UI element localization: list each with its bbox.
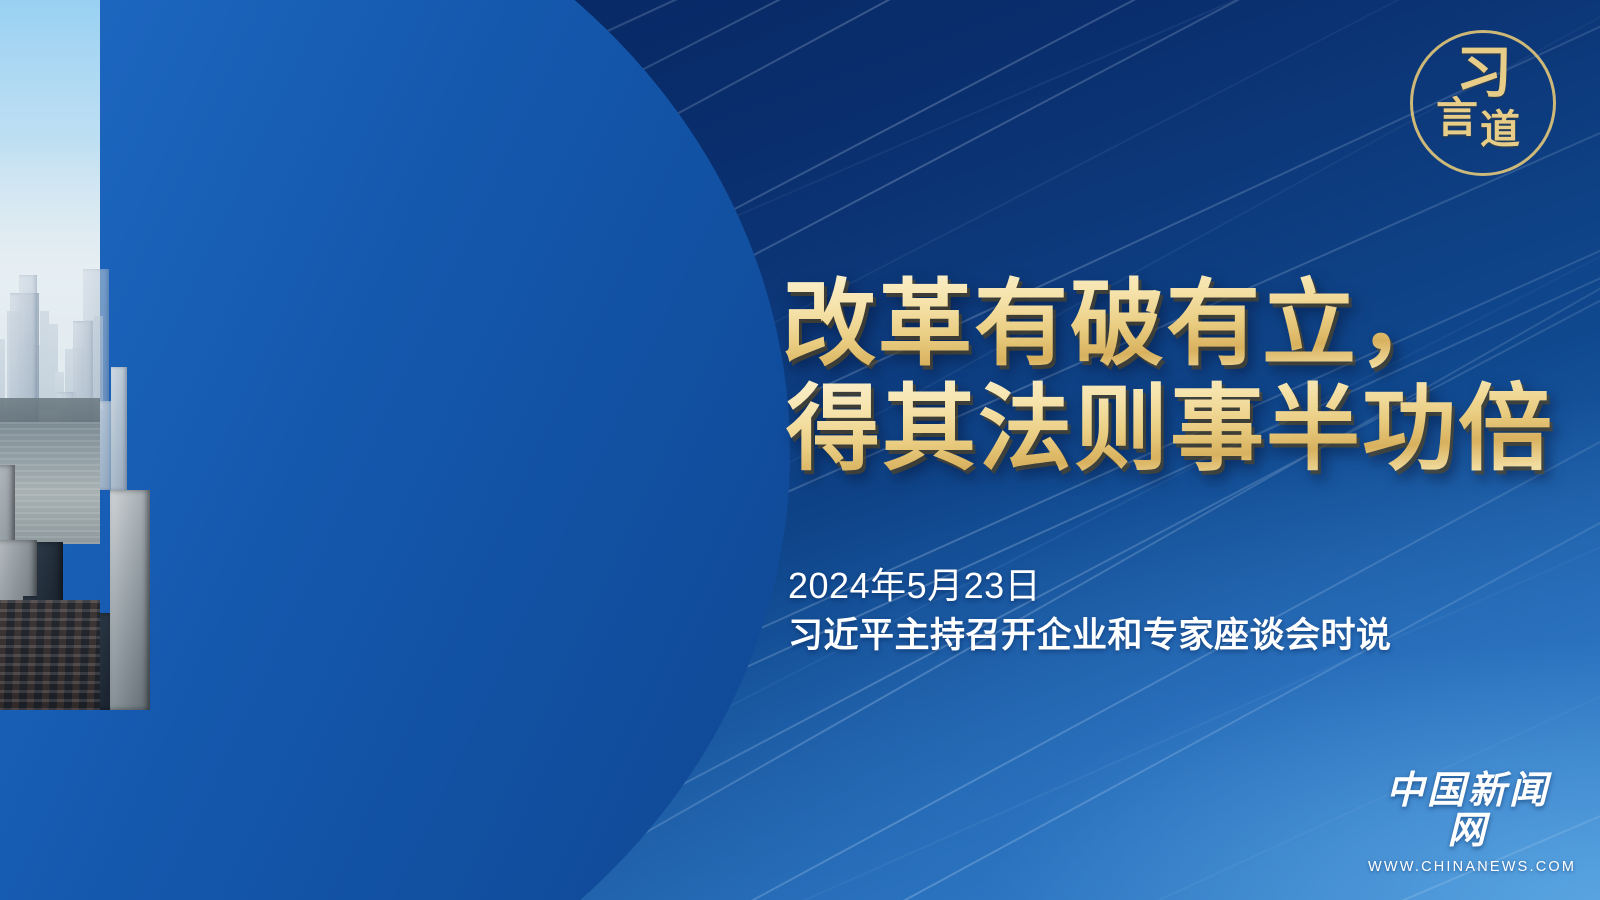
seal-char-dao: 道 bbox=[1480, 110, 1520, 150]
seal-char-yan: 言 bbox=[1436, 98, 1478, 140]
xi-yan-dao-seal-logo: 习 言 道 bbox=[1410, 30, 1556, 176]
headline-line-2: 得其法则事半功倍 bbox=[786, 377, 1582, 482]
brand-url: WWW.CHINANEWS.COM bbox=[1368, 859, 1568, 875]
quote-date: 2024年5月23日 bbox=[788, 563, 1392, 609]
seal-characters: 习 言 道 bbox=[1410, 30, 1556, 176]
seal-char-xi: 习 bbox=[1456, 46, 1512, 102]
brand-name-cn: 中国新闻网 bbox=[1368, 772, 1568, 852]
chinanews-brand: 中国新闻网 WWW.CHINANEWS.COM bbox=[1368, 772, 1568, 875]
headline-line-1: 改革有破有立， bbox=[782, 272, 1582, 377]
headline: 改革有破有立， 得其法则事半功倍 bbox=[782, 272, 1582, 483]
quote-attribution: 2024年5月23日 习近平主持召开企业和专家座谈会时说 bbox=[788, 563, 1392, 659]
quote-context: 习近平主持召开企业和专家座谈会时说 bbox=[788, 613, 1392, 659]
poster-canvas: 习 言 道 改革有破有立， 得其法则事半功倍 2024年5月23日 习近平主持召… bbox=[0, 0, 1600, 900]
low-rise-rooftops bbox=[0, 600, 100, 710]
cityscape-photo bbox=[0, 0, 735, 900]
